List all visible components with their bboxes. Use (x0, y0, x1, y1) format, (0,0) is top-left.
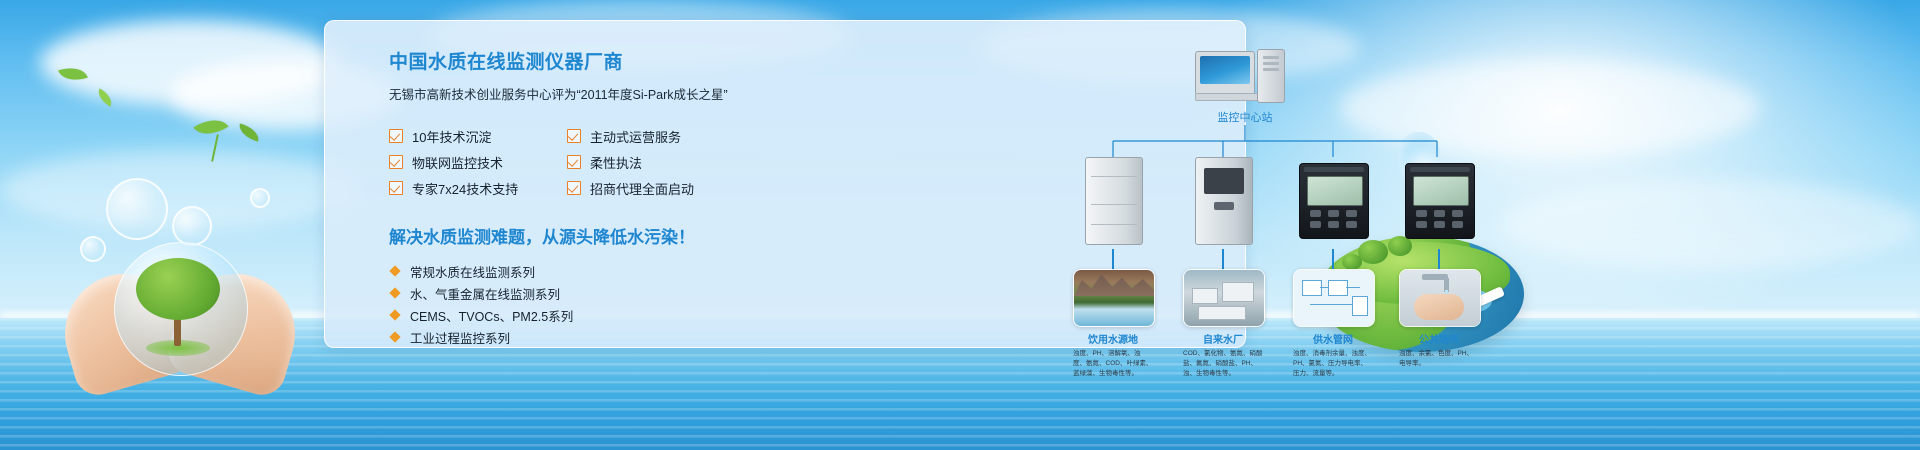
scenario-photo (1399, 269, 1481, 327)
water-plant-photo (1184, 270, 1264, 326)
section-title: 解决水质监测难题，从源头降低水污染！ (389, 223, 749, 248)
checklist-item[interactable]: 物联网监控技术 (389, 149, 567, 175)
list-item[interactable]: 工业过程监控系列 (389, 326, 749, 348)
hands-holding-tree-illustration (62, 236, 298, 386)
scenario-description: 浊度、消毒剂余量、浊度、PH、氯氮、压力导电率、压力、流量等。 (1293, 349, 1373, 378)
checklist-item-label: 主动式运营服务 (590, 127, 681, 146)
controller-top-strip (1410, 167, 1470, 172)
scenario-card[interactable]: 供水管网 浊度、消毒剂余量、浊度、PH、氯氮、压力导电率、压力、流量等。 (1293, 269, 1373, 378)
cabinet-body (1195, 157, 1253, 245)
list-item-label: 工业过程监控系列 (410, 328, 510, 347)
controller-buttons[interactable] (1310, 210, 1358, 230)
controller-body (1405, 163, 1475, 239)
checkbox-checked-icon (567, 155, 581, 169)
cabinet-body (1085, 157, 1143, 245)
pipeline-diagram-photo (1294, 270, 1374, 326)
list-item-label: 水、气重金属在线监测系列 (410, 284, 560, 303)
scenario-photo (1183, 269, 1265, 327)
controller-lcd (1413, 176, 1469, 206)
scenario-card[interactable]: 公共场所 浊度、余氯、色度、PH、电导率。 (1399, 269, 1479, 369)
monitoring-center-computer-icon (1195, 51, 1291, 99)
checkbox-checked-icon (389, 129, 403, 143)
content-panel: 中国水质在线监测仪器厂商 无锡市高新技术创业服务中心评为“2011年度Si-Pa… (324, 20, 1246, 348)
product-series-list: 常规水质在线监测系列 水、气重金属在线监测系列 CEMS、TVOCs、PM2.5… (389, 260, 749, 348)
checklist-item[interactable]: 专家7x24技术支持 (389, 175, 567, 201)
system-diagram: 监控中心站 (1025, 37, 1465, 343)
checklist-item-label: 物联网监控技术 (412, 153, 503, 172)
analyzer-cabinet-icon (1071, 157, 1155, 245)
device-controller-2[interactable] (1397, 157, 1481, 245)
scenario-card[interactable]: 饮用水源地 浊度、PH、溶解氧、浊度、氨氮、COD、叶绿素、蓝绿藻、生物毒性等。 (1073, 269, 1153, 378)
checklist-item-label: 10年技术沉淀 (412, 127, 491, 146)
river-photo (1074, 270, 1154, 326)
scenario-description: 浊度、PH、溶解氧、浊度、氨氮、COD、叶绿素、蓝绿藻、生物毒性等。 (1073, 349, 1153, 378)
scenario-photo (1293, 269, 1375, 327)
checklist-item-label: 专家7x24技术支持 (412, 179, 518, 198)
list-item-label: CEMS、TVOCs、PM2.5系列 (410, 306, 573, 325)
hands (1414, 294, 1464, 320)
scenario-photo (1073, 269, 1155, 327)
faucet-hands-photo (1400, 270, 1480, 326)
diamond-bullet-icon (389, 309, 400, 320)
list-item-label: 常规水质在线监测系列 (410, 262, 535, 281)
feature-checklist: 10年技术沉淀 主动式运营服务 物联网监控技术 柔性执法 专家7x24技术支持 … (389, 123, 745, 201)
device-cabinet-1[interactable] (1071, 157, 1155, 245)
arrow-down-icon (1112, 249, 1114, 271)
monitor-icon (1195, 51, 1255, 95)
center-station-label: 监控中心站 (1175, 109, 1315, 125)
list-item[interactable]: 水、气重金属在线监测系列 (389, 282, 749, 304)
bubble-icon (250, 188, 270, 208)
checklist-item[interactable]: 10年技术沉淀 (389, 123, 567, 149)
controller-icon (1397, 157, 1481, 245)
checklist-item-label: 招商代理全面启动 (590, 179, 694, 198)
scenario-caption: 饮用水源地 (1073, 331, 1153, 346)
controller-buttons[interactable] (1416, 210, 1464, 230)
page-title: 中国水质在线监测仪器厂商 (389, 47, 749, 74)
list-item[interactable]: CEMS、TVOCs、PM2.5系列 (389, 304, 749, 326)
device-cabinet-2[interactable] (1181, 157, 1265, 245)
panel-text-column: 中国水质在线监测仪器厂商 无锡市高新技术创业服务中心评为“2011年度Si-Pa… (389, 47, 749, 348)
arrow-down-icon (1438, 249, 1440, 271)
page-subtitle: 无锡市高新技术创业服务中心评为“2011年度Si-Park成长之星” (389, 84, 749, 103)
checklist-item[interactable]: 招商代理全面启动 (567, 175, 745, 201)
cloud (1500, 180, 1920, 270)
analyzer-cabinet-icon (1181, 157, 1265, 245)
controller-body (1299, 163, 1369, 239)
scenario-card[interactable]: 自来水厂 COD、氯化物、氨氮、硝酸盐、氟氮、硝酸盐、PH、浊、生物毒性等。 (1183, 269, 1263, 378)
checklist-item[interactable]: 主动式运营服务 (567, 123, 745, 149)
checkbox-checked-icon (567, 129, 581, 143)
scenario-caption: 供水管网 (1293, 331, 1373, 346)
scenario-description: 浊度、余氯、色度、PH、电导率。 (1399, 349, 1479, 369)
checkbox-checked-icon (567, 181, 581, 195)
arrow-down-icon (1222, 249, 1224, 271)
tree-foliage (136, 258, 220, 320)
controller-icon (1291, 157, 1375, 245)
mountain-range (1074, 270, 1154, 296)
checkbox-checked-icon (389, 155, 403, 169)
cabinet-knob (1214, 202, 1234, 210)
monitor-screen (1200, 56, 1250, 84)
diamond-bullet-icon (389, 287, 400, 298)
controller-top-strip (1304, 167, 1364, 172)
cabinet-window (1204, 168, 1244, 194)
scenario-description: COD、氯化物、氨氮、硝酸盐、氟氮、硝酸盐、PH、浊、生物毒性等。 (1183, 349, 1263, 378)
checklist-item[interactable]: 柔性执法 (567, 149, 745, 175)
arrow-down-icon (1332, 249, 1334, 271)
scenario-caption: 自来水厂 (1183, 331, 1263, 346)
list-item[interactable]: 常规水质在线监测系列 (389, 260, 749, 282)
diamond-bullet-icon (389, 331, 400, 342)
checklist-item-label: 柔性执法 (590, 153, 642, 172)
controller-lcd (1307, 176, 1363, 206)
diamond-bullet-icon (389, 265, 400, 276)
bubble-icon (106, 178, 168, 240)
keyboard-icon (1195, 93, 1259, 101)
device-controller-1[interactable] (1291, 157, 1375, 245)
scenario-caption: 公共场所 (1399, 331, 1479, 346)
pc-tower-icon (1257, 49, 1285, 103)
checkbox-checked-icon (389, 181, 403, 195)
